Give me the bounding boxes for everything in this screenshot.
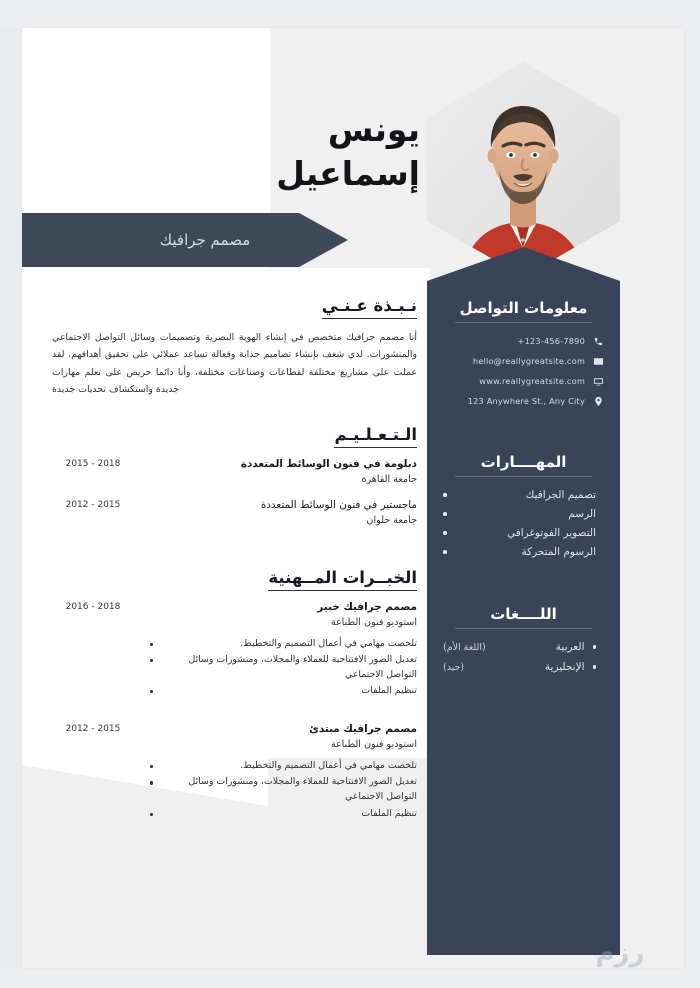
languages-section: اللــــغات العربية (اللغة الأم) الإنجليز… (427, 565, 620, 673)
experience-bullet: تنظيم الملفات (150, 807, 417, 822)
experience-role: مصمم جرافيك مبتدئ (150, 723, 417, 735)
language-item: العربية (اللغة الأم) (443, 641, 596, 653)
monitor-icon (592, 375, 604, 387)
experience-section: الخبــرات المــهنية مصمم جرافيك خبير است… (52, 568, 417, 838)
education-degree: دبلومة في فنون الوسائط المتعددة (150, 458, 417, 470)
language-name: العربية (523, 641, 585, 653)
skill-label: الرسوم المتحركة (455, 546, 597, 558)
experience-entry: مصمم جرافيك مبتدئ استوديو فنون الطباعة ت… (52, 723, 417, 823)
first-name: يونس (192, 108, 432, 152)
skill-item: الرسم (443, 508, 596, 520)
bullet-icon (593, 665, 597, 669)
contact-row-email[interactable]: hello@reallygreatsite.com (447, 355, 604, 367)
contact-section: معلومات التواصل +123-456-7890 hello@real… (427, 247, 620, 407)
about-section-title: نـبـذة عـنـي (322, 296, 417, 319)
language-level: (جيد) (443, 662, 515, 673)
job-title-banner: مصمم جرافيك (22, 213, 348, 267)
education-section-title: الـتـعـلـيـم (334, 425, 417, 448)
education-school: جامعة القاهرة (150, 474, 417, 485)
contact-section-title: معلومات التواصل (455, 299, 592, 323)
contact-row-website[interactable]: www.reallygreatsite.com (447, 375, 604, 387)
main-content-column: نـبـذة عـنـي أنا مصمم جرافيك متخصص في إن… (52, 296, 417, 857)
contact-website-value: www.reallygreatsite.com (447, 376, 585, 386)
contact-list: +123-456-7890 hello@reallygreatsite.com … (443, 335, 604, 407)
experience-role: مصمم جرافيك خبير (150, 601, 417, 613)
experience-date: 2012 - 2015 (52, 723, 134, 823)
skill-item: تصميم الجرافيك (443, 489, 596, 501)
sidebar-panel: معلومات التواصل +123-456-7890 hello@real… (427, 247, 620, 955)
experience-section-title: الخبــرات المــهنية (268, 568, 417, 591)
experience-company: استوديو فنون الطباعة (150, 617, 417, 628)
experience-bullet-text: تلخصت مهامي في أعمال التصميم والتخطيط. (160, 759, 417, 774)
experience-bullet: تعديل الصور الافتتاحية للعملاء والمجلات،… (150, 775, 417, 804)
bullet-icon (593, 645, 597, 649)
job-title-text: مصمم جرافيك (160, 231, 251, 249)
skills-list: تصميم الجرافيك الرسم التصوير الفوتوغرافي… (443, 489, 604, 558)
skill-item: الرسوم المتحركة (443, 546, 596, 558)
bullet-icon (150, 765, 153, 768)
name-block: يونس إسماعيل (192, 108, 432, 195)
experience-bullet: تنظيم الملفات (150, 684, 417, 699)
bullet-icon (443, 531, 447, 535)
experience-bullet-list: تلخصت مهامي في أعمال التصميم والتخطيط. ت… (150, 637, 417, 699)
skill-label: الرسم (455, 508, 597, 520)
watermark-logo: رزم (555, 938, 685, 980)
experience-body: مصمم جرافيك خبير استوديو فنون الطباعة تل… (52, 601, 417, 824)
experience-bullet: تلخصت مهامي في أعمال التصميم والتخطيط. (150, 637, 417, 652)
last-name: إسماعيل (192, 152, 432, 196)
language-item: الإنجليزية (جيد) (443, 661, 596, 673)
about-body: أنا مصمم جرافيك متخصص في إنشاء الهوية ال… (52, 329, 417, 399)
experience-entry: مصمم جرافيك خبير استوديو فنون الطباعة تل… (52, 601, 417, 701)
education-date: 2015 - 2018 (52, 458, 134, 485)
bullet-icon (150, 781, 153, 784)
contact-email-value: hello@reallygreatsite.com (447, 356, 585, 366)
skills-section-title: المهــــارات (455, 453, 592, 477)
experience-bullet-text: تنظيم الملفات (160, 807, 417, 822)
contact-row-address[interactable]: 123 Anywhere St., Any City (447, 395, 604, 407)
experience-entry-details: مصمم جرافيك مبتدئ استوديو فنون الطباعة ت… (134, 723, 417, 823)
education-body: دبلومة في فنون الوسائط المتعددة جامعة ال… (52, 458, 417, 526)
education-entry: دبلومة في فنون الوسائط المتعددة جامعة ال… (52, 458, 417, 485)
languages-list: العربية (اللغة الأم) الإنجليزية (جيد) (443, 641, 604, 673)
bullet-icon (443, 512, 447, 516)
contact-address-value: 123 Anywhere St., Any City (447, 396, 585, 406)
education-date: 2012 - 2015 (52, 499, 134, 526)
envelope-icon (592, 355, 604, 367)
education-entry: ماجستير في فنون الوسائط المتعددة جامعة ح… (52, 499, 417, 526)
bullet-icon (150, 690, 153, 693)
experience-bullet: تعديل الصور الافتتاحية للعملاء والمجلات،… (150, 653, 417, 682)
education-section: الـتـعـلـيـم دبلومة في فنون الوسائط المت… (52, 425, 417, 540)
experience-bullet-text: تعديل الصور الافتتاحية للعملاء والمجلات،… (160, 775, 417, 804)
skill-label: تصميم الجرافيك (455, 489, 597, 501)
contact-phone-value: +123-456-7890 (447, 336, 585, 346)
phone-icon (592, 335, 604, 347)
bullet-icon (150, 659, 153, 662)
skill-item: التصوير الفوتوغرافي (443, 527, 596, 539)
languages-section-title: اللــــغات (455, 605, 592, 629)
language-name: الإنجليزية (523, 661, 585, 673)
skills-section: المهــــارات تصميم الجرافيك الرسم التصوي… (427, 415, 620, 558)
bullet-icon (443, 550, 447, 554)
experience-bullet-text: تعديل الصور الافتتاحية للعملاء والمجلات،… (160, 653, 417, 682)
education-school: جامعة حلوان (150, 515, 417, 526)
about-text: أنا مصمم جرافيك متخصص في إنشاء الهوية ال… (52, 329, 417, 399)
page-left-strip (0, 28, 24, 968)
experience-bullet: تلخصت مهامي في أعمال التصميم والتخطيط. (150, 759, 417, 774)
experience-bullet-text: تلخصت مهامي في أعمال التصميم والتخطيط. (160, 637, 417, 652)
experience-bullet-text: تنظيم الملفات (160, 684, 417, 699)
education-entry-details: ماجستير في فنون الوسائط المتعددة جامعة ح… (134, 499, 417, 526)
experience-bullet-list: تلخصت مهامي في أعمال التصميم والتخطيط. ت… (150, 759, 417, 821)
experience-company: استوديو فنون الطباعة (150, 739, 417, 750)
education-entry-details: دبلومة في فنون الوسائط المتعددة جامعة ال… (134, 458, 417, 485)
bullet-icon (443, 493, 447, 497)
contact-row-phone[interactable]: +123-456-7890 (447, 335, 604, 347)
education-degree: ماجستير في فنون الوسائط المتعددة (150, 499, 417, 511)
skill-label: التصوير الفوتوغرافي (455, 527, 597, 539)
language-level: (اللغة الأم) (443, 642, 515, 653)
about-section: نـبـذة عـنـي أنا مصمم جرافيك متخصص في إن… (52, 296, 417, 399)
experience-date: 2016 - 2018 (52, 601, 134, 701)
experience-entry-details: مصمم جرافيك خبير استوديو فنون الطباعة تل… (134, 601, 417, 701)
bullet-icon (150, 813, 153, 816)
bullet-icon (150, 643, 153, 646)
resume-page: يونس إسماعيل مصمم جرافيك (0, 0, 700, 988)
location-pin-icon (592, 395, 604, 407)
